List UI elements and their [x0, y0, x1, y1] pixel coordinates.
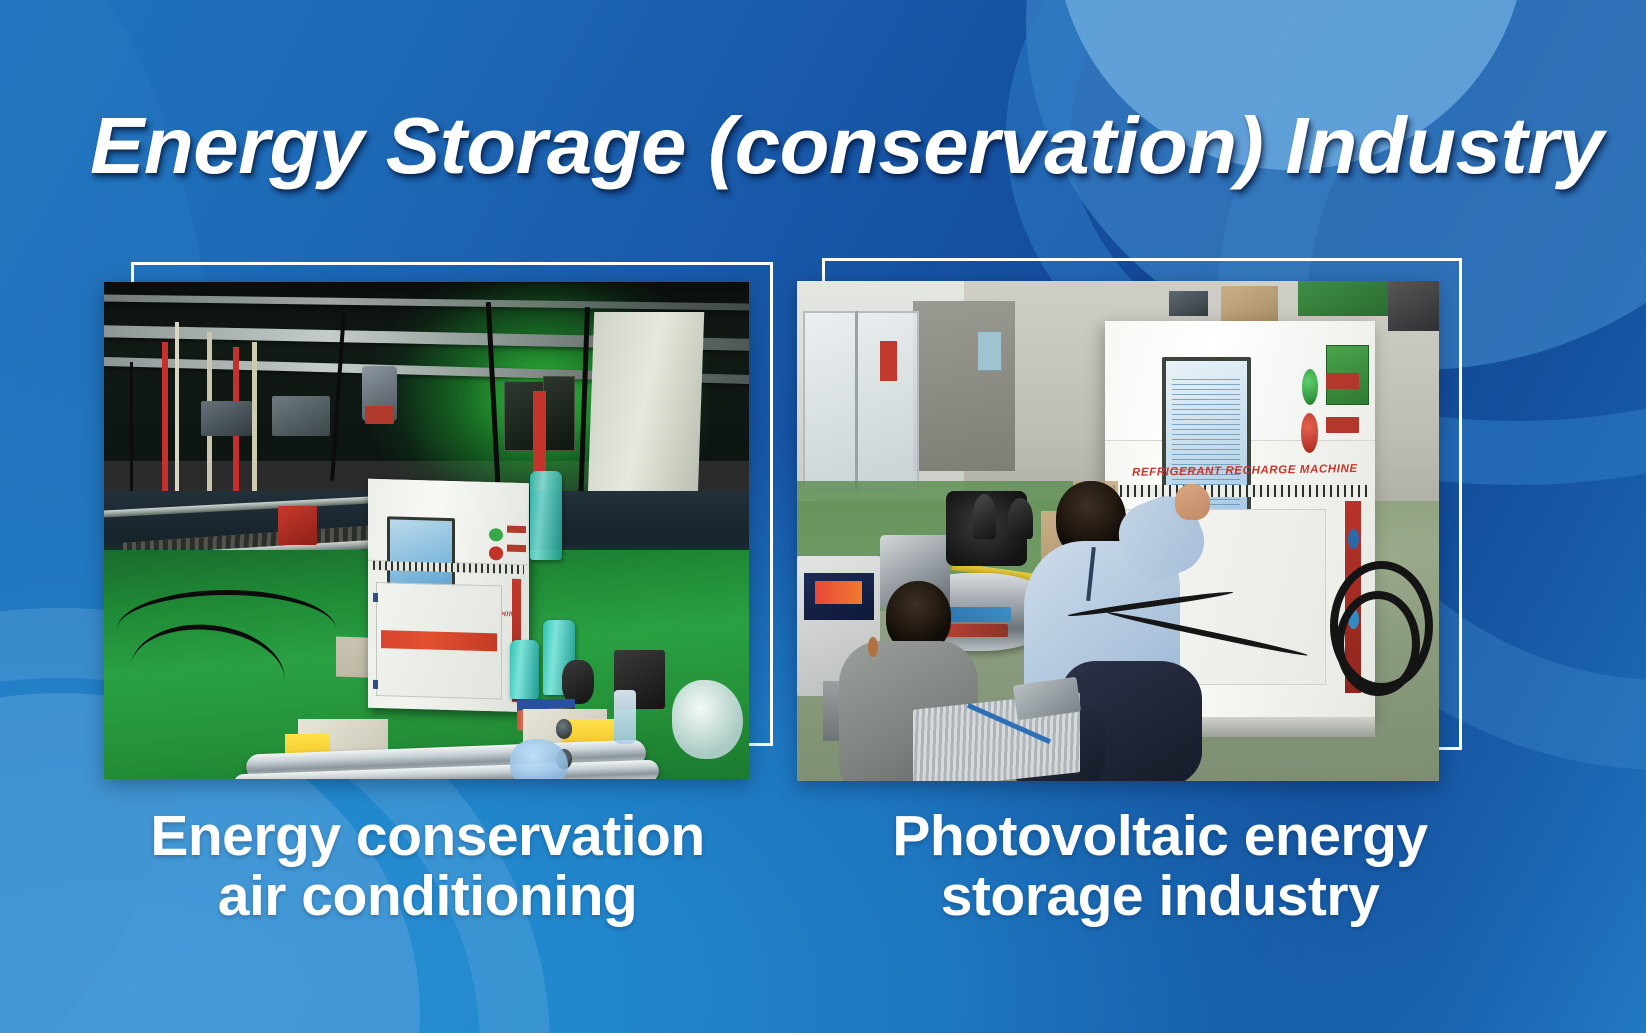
page-title: Energy Storage (conservation) Industry: [90, 106, 1589, 186]
wall-unit: [1169, 291, 1208, 316]
photo-right-scene: REFRIGERANT RECHARGE MACHINE: [797, 281, 1439, 781]
refrigerant-cylinder: [530, 471, 562, 560]
cabinet-divider: [855, 311, 858, 491]
pump-cylinder: [973, 494, 996, 538]
red-equipment: [278, 506, 317, 546]
caption-right: Photovoltaic energy storage industry: [780, 806, 1540, 927]
overhead-unit: [201, 401, 253, 436]
photo-left-scene: REFRIGERANT RECHARGE MACHINE: [104, 282, 749, 779]
machine-label-strip: [1326, 417, 1358, 433]
wall-window: [977, 331, 1003, 371]
plastic-bag: [672, 680, 743, 760]
technician-hand: [1175, 484, 1210, 520]
glass-cabinet: [803, 311, 919, 491]
door-hinge: [373, 680, 378, 689]
dark-rack: [1388, 281, 1439, 331]
cardboard-box: [1221, 286, 1279, 321]
machine-label-strip: [507, 544, 526, 551]
green-shelf-unit: [1298, 281, 1388, 316]
side-indicator: [1348, 529, 1359, 549]
black-equipment: [562, 660, 594, 705]
caption-right-line1: Photovoltaic energy: [892, 804, 1427, 868]
red-emergency-button: [1301, 413, 1319, 453]
workshop-doorway: [913, 301, 1016, 471]
caption-left: Energy conservation air conditioning: [60, 806, 795, 927]
machine-label-strip: [507, 526, 526, 533]
coiled-hose: [1336, 591, 1419, 696]
machine-brand-text: REFRIGERANT RECHARGE MACHINE: [1132, 463, 1353, 479]
photo-left: REFRIGERANT RECHARGE MACHINE: [104, 282, 749, 779]
overhead-unit: [272, 396, 330, 436]
connector-red-cap: [365, 406, 394, 423]
slide-root: Energy Storage (conservation) Industry: [0, 0, 1646, 1033]
water-bottle: [614, 690, 637, 745]
green-indicator-light: [1302, 369, 1318, 405]
caption-left-line1: Energy conservation: [150, 804, 704, 868]
electrical-panel: [543, 376, 575, 451]
refrigerant-cylinder: [510, 640, 539, 700]
machine-label-strip: [1326, 373, 1358, 389]
caption-left-line2: air conditioning: [60, 866, 795, 926]
technician-ear: [868, 637, 878, 657]
refrigerant-recharge-machine: REFRIGERANT RECHARGE MACHINE: [368, 479, 529, 712]
red-marker: [880, 341, 896, 381]
caption-right-line2: storage industry: [780, 866, 1540, 926]
machine-red-nameplate: [381, 630, 497, 652]
door-hinge: [373, 593, 378, 602]
photo-right: REFRIGERANT RECHARGE MACHINE: [797, 281, 1439, 781]
